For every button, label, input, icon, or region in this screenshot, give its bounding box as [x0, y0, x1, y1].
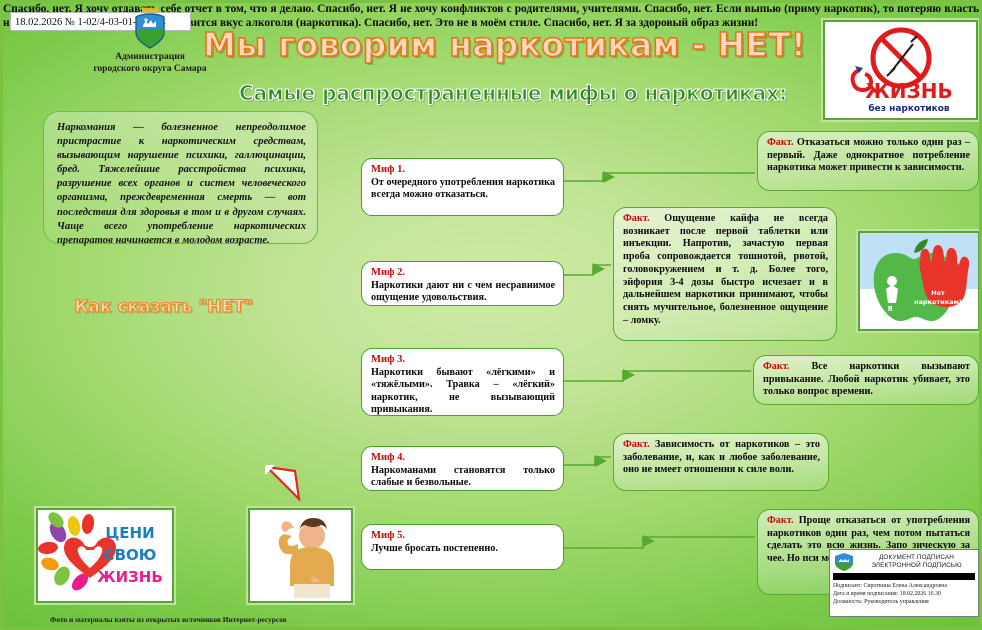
- administration-line-2: городского округа Самара: [55, 63, 245, 75]
- signature-datetime: Дата и время подписания: 18.02.2026 16.3…: [833, 590, 975, 598]
- fact-box-3: Факт. Все наркотики вызывают привыкание.…: [753, 355, 979, 405]
- poster-subtitle: Самые распространенные мифы о наркотиках…: [203, 81, 823, 105]
- myth-text: Наркотики бывают «лёгкими» и «тяжёлыми».…: [371, 367, 555, 417]
- life-subword: без наркотиков: [868, 103, 950, 114]
- samara-emblem-small-icon: [833, 552, 855, 572]
- fact-lead: Факт.: [767, 515, 794, 526]
- fact-text: Факт. Отказаться можно только один раз –…: [767, 137, 970, 175]
- fact-lead: Факт.: [623, 213, 650, 224]
- speech-bubble-tail-icon: [265, 465, 301, 501]
- myth-text: Лучше бросать постепенно.: [371, 543, 555, 556]
- myth-label: Миф 2.: [371, 267, 555, 280]
- myth-text: От очередного употребления наркотика все…: [371, 177, 555, 202]
- svg-text:ЦЕНИ: ЦЕНИ: [105, 524, 154, 542]
- fact-body: Все наркотики вызывают привыкание. Любой…: [763, 361, 970, 397]
- myth-box-1: Миф 1. От очередного употребления наркот…: [361, 158, 564, 216]
- svg-text:Нет: Нет: [931, 289, 945, 297]
- apple-and-hand-icon: Я Нет наркотикам!: [860, 233, 978, 329]
- how-to-say-no-title: Как сказать "НЕТ": [30, 297, 298, 317]
- svg-text:Я: Я: [887, 305, 892, 313]
- electronic-signature-block: ДОКУМЕНТ ПОДПИСАН ЭЛЕКТРОННОЙ ПОДПИСЬЮ П…: [829, 549, 979, 617]
- signature-title-line-1: ДОКУМЕНТ ПОДПИСАН: [858, 554, 975, 562]
- signature-signer: Подписант: Сироткина Елена Александровна: [833, 582, 975, 590]
- fact-lead: Факт.: [763, 361, 790, 372]
- drug-addiction-definition-box: Наркомания — болезненное непреодолимое п…: [43, 111, 318, 244]
- signature-title-line-2: ЭЛЕКТРОННОЙ ПОДПИСЬЮ: [858, 562, 975, 570]
- fact-body: Зависимость от наркотиков – это заболева…: [623, 439, 820, 475]
- myth-label: Миф 5.: [371, 530, 555, 543]
- person-raising-hand-icon: [250, 510, 351, 601]
- signature-position: Должность: Руководитель управления: [833, 598, 975, 606]
- definition-text: Наркомания — болезненное непреодолимое п…: [57, 121, 306, 248]
- apple-and-hand-frame: Я Нет наркотикам!: [858, 231, 980, 331]
- fact-text: Факт. Ощущение кайфа не всегда возникает…: [623, 213, 828, 327]
- myth-text: Наркоманами становятся только слабые и б…: [371, 465, 555, 490]
- life-word: ЖИЗНЬ: [865, 79, 952, 103]
- signature-header: ДОКУМЕНТ ПОДПИСАН ЭЛЕКТРОННОЙ ПОДПИСЬЮ: [833, 552, 975, 572]
- myth-label: Миф 1.: [371, 164, 555, 177]
- myth-box-4: Миф 4. Наркоманами становятся только сла…: [361, 446, 564, 491]
- signature-title: ДОКУМЕНТ ПОДПИСАН ЭЛЕКТРОННОЙ ПОДПИСЬЮ: [858, 554, 975, 570]
- fact-body: Ощущение кайфа не всегда возникает после…: [623, 213, 828, 326]
- svg-text:наркотикам!: наркотикам!: [914, 298, 962, 306]
- samara-coat-of-arms-icon: [131, 5, 169, 51]
- poster-canvas: 18.02.2026 № 1-02/4-03-01-05/614 Админис…: [0, 0, 982, 630]
- fact-box-1: Факт. Отказаться можно только один раз –…: [757, 131, 979, 191]
- poster-main-title: Мы говорим наркотикам - НЕТ!: [203, 25, 803, 64]
- person-illustration-frame: [248, 508, 353, 603]
- svg-text:ЖИЗНЬ: ЖИЗНЬ: [97, 568, 163, 586]
- fact-box-4: Факт. Зависимость от наркотиков – это за…: [613, 433, 829, 491]
- fact-box-2: Факт. Ощущение кайфа не всегда возникает…: [613, 207, 837, 341]
- fact-lead: Факт.: [623, 439, 650, 450]
- fact-text: Факт. Зависимость от наркотиков – это за…: [623, 439, 820, 477]
- fact-lead: Факт.: [767, 137, 794, 148]
- value-your-life-icon: ЦЕНИ СВОЮ ЖИЗНЬ: [38, 510, 172, 601]
- myth-box-5: Миф 5. Лучше бросать постепенно.: [361, 524, 564, 570]
- myth-label: Миф 4.: [371, 452, 555, 465]
- myth-label: Миф 3.: [371, 354, 555, 367]
- value-your-life-frame: ЦЕНИ СВОЮ ЖИЗНЬ: [36, 508, 174, 603]
- svg-text:СВОЮ: СВОЮ: [104, 546, 157, 564]
- fact-body: Отказаться можно только один раз – первы…: [767, 137, 970, 173]
- signature-redaction-bar: [833, 573, 975, 580]
- myth-text: Наркотики дают ни с чем несравнимое ощущ…: [371, 280, 555, 305]
- footer-source-note: Фото и материалы взяты из открытых источ…: [50, 615, 287, 624]
- life-without-drugs-icon: ЖИЗНЬ без наркотиков: [825, 22, 976, 118]
- myth-box-3: Миф 3. Наркотики бывают «лёгкими» и «тяж…: [361, 348, 564, 416]
- myth-box-2: Миф 2. Наркотики дают ни с чем несравним…: [361, 261, 564, 306]
- fact-text: Факт. Все наркотики вызывают привыкание.…: [763, 361, 970, 399]
- life-without-drugs-frame: ЖИЗНЬ без наркотиков: [823, 20, 978, 120]
